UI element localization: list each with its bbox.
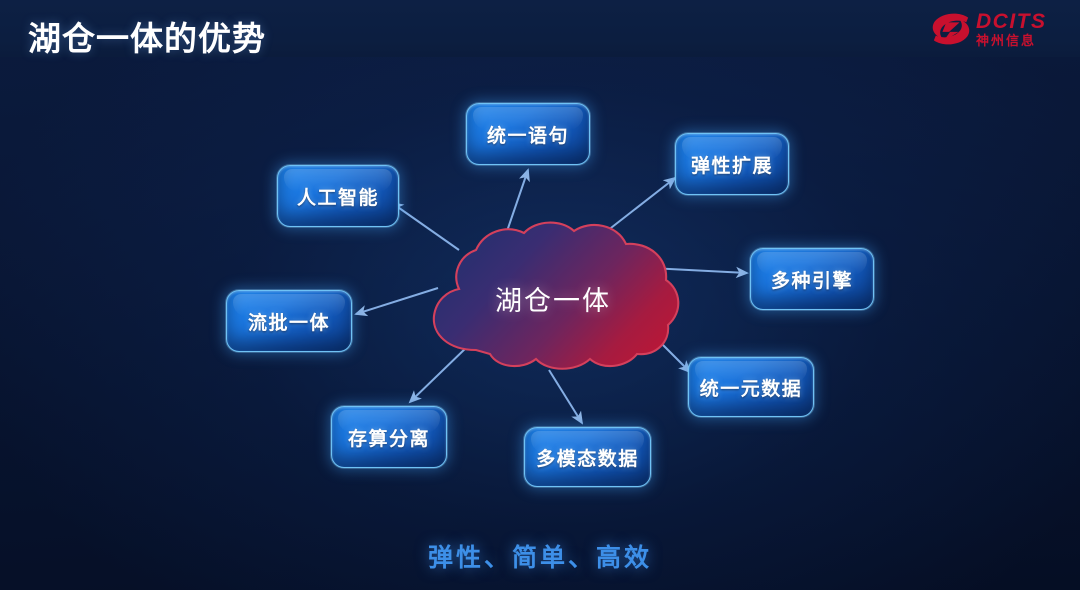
node-stream-batch[interactable]: 流批一体 <box>226 290 352 352</box>
slide-canvas: 湖仓一体的优势 DCITS 神州信息 <box>0 0 1080 590</box>
node-elastic-scaling[interactable]: 弹性扩展 <box>675 133 789 195</box>
node-unified-syntax[interactable]: 统一语句 <box>466 103 590 165</box>
advantages-diagram: 湖仓一体 统一语句 弹性扩展 人工智能 多种引擎 流批一体 统一元数据 存算分离… <box>0 0 1080 590</box>
cloud-center-label: 湖仓一体 <box>418 218 688 378</box>
node-multimodal-data[interactable]: 多模态数据 <box>524 427 651 487</box>
node-ai[interactable]: 人工智能 <box>277 165 399 227</box>
slide-caption: 弹性、简单、高效 <box>0 538 1080 574</box>
node-storage-compute[interactable]: 存算分离 <box>331 406 447 468</box>
node-unified-metadata[interactable]: 统一元数据 <box>688 357 814 417</box>
node-multi-engine[interactable]: 多种引擎 <box>750 248 874 310</box>
